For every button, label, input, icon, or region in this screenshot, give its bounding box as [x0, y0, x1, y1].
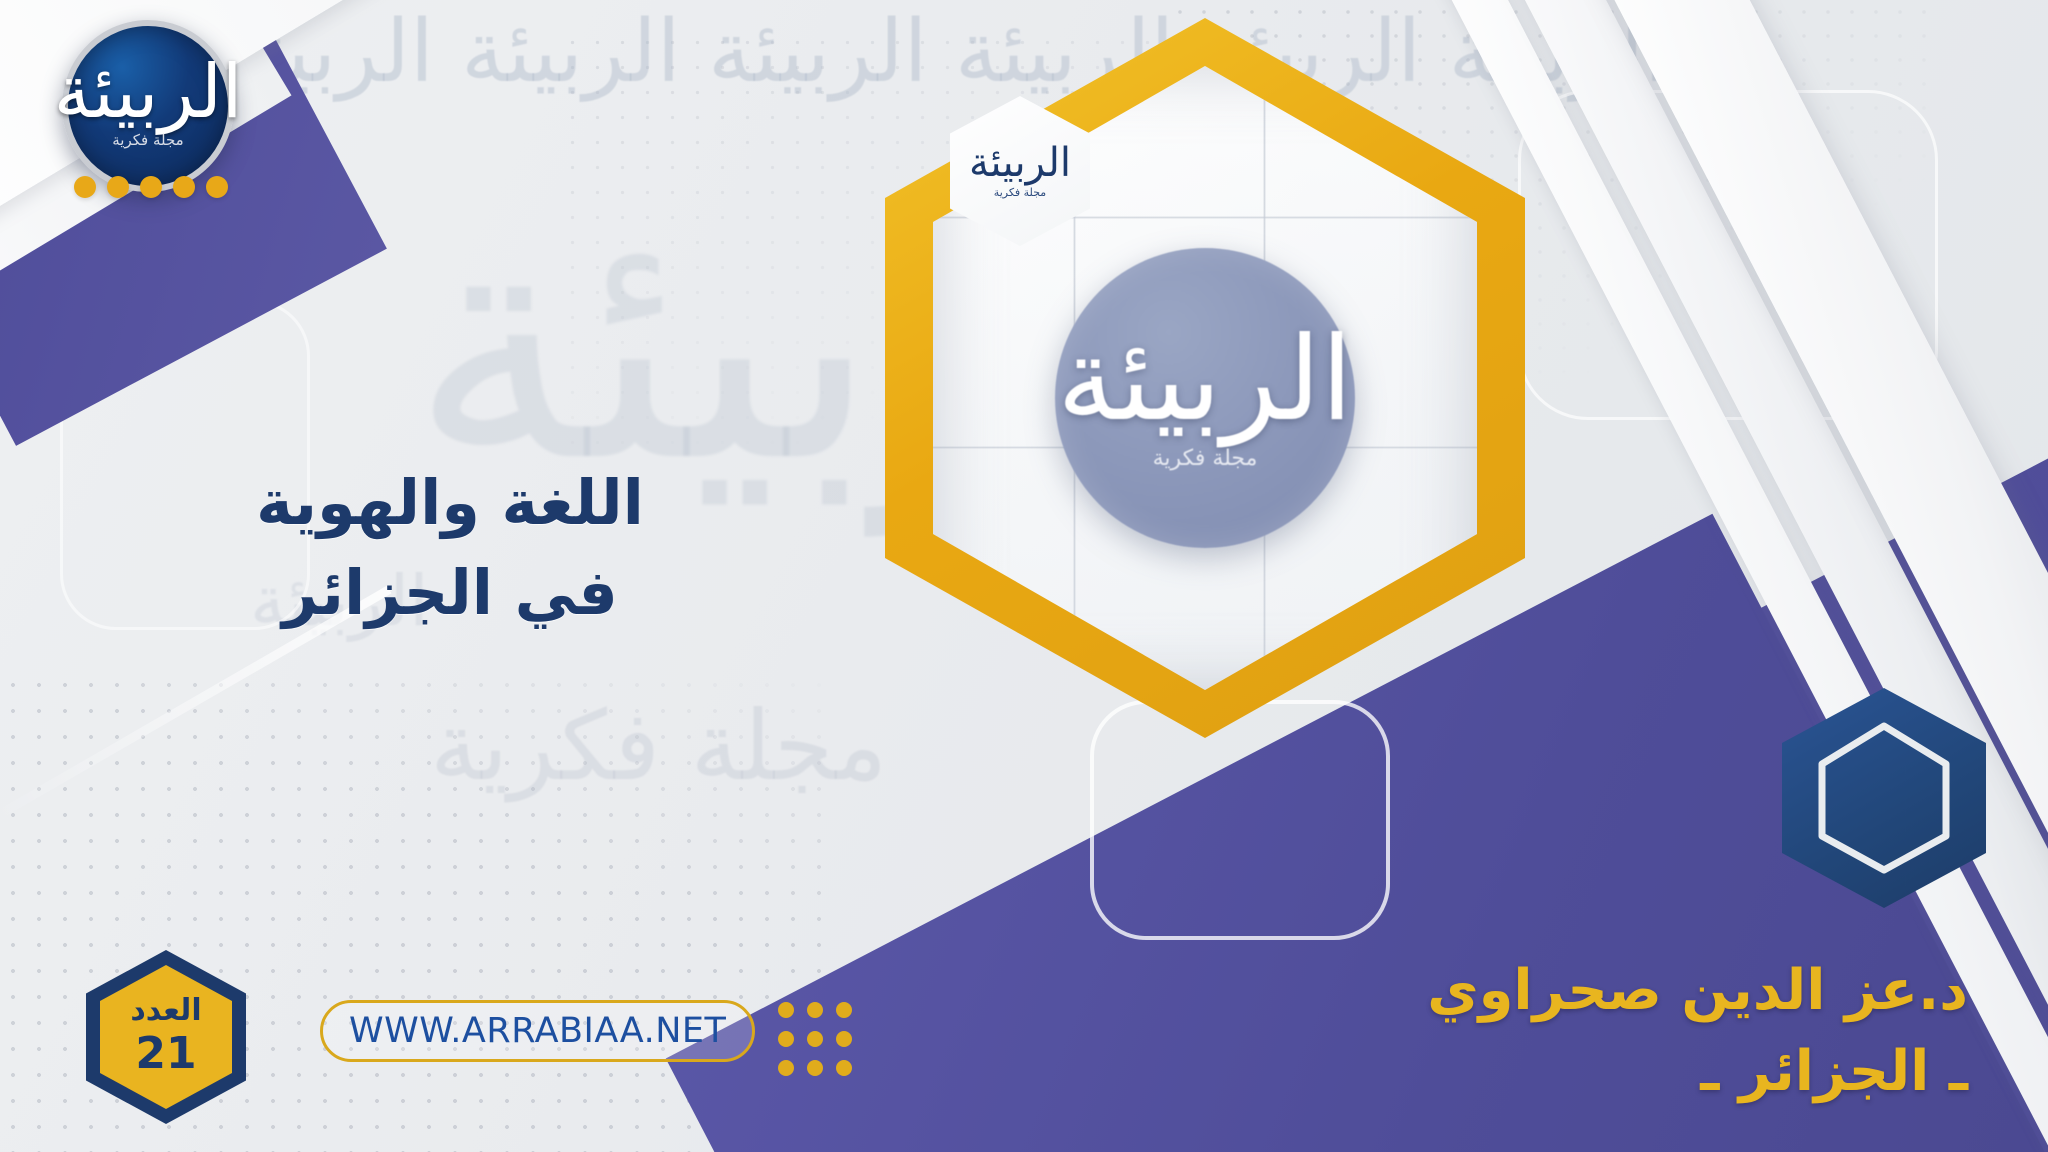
dot-icon: [836, 1002, 852, 1018]
dot-icon: [807, 1002, 823, 1018]
badge-tagline: مجلة فكرية: [994, 186, 1046, 199]
dot-icon: [778, 1060, 794, 1076]
author-name: د.عز الدين صحراوي: [1427, 958, 1968, 1023]
dot-icon: [807, 1060, 823, 1076]
dot-icon: [107, 176, 129, 198]
author-credit: د.عز الدين صحراوي ـ الجزائر ـ: [1427, 950, 1968, 1112]
dot-icon: [778, 1002, 794, 1018]
logo-disc-large: الربيئة مجلة فكرية: [1055, 248, 1355, 548]
logo-disc-tagline: مجلة فكرية: [1153, 446, 1258, 471]
website-url[interactable]: WWW.ARRABIAA.NET: [349, 1011, 726, 1051]
title-line-1: اللغة والهوية: [150, 460, 750, 546]
title-line-2: في الجزائر: [150, 550, 750, 636]
dot-icon: [836, 1031, 852, 1047]
dot-icon: [140, 176, 162, 198]
dot-icon: [206, 176, 228, 198]
hexagon-outline-icon: [1818, 722, 1950, 874]
dot-icon: [778, 1031, 794, 1047]
website-pill[interactable]: WWW.ARRABIAA.NET: [320, 1000, 755, 1062]
dot-icon: [836, 1060, 852, 1076]
author-country: ـ الجزائر ـ: [1427, 1031, 1968, 1112]
dot-grid-icon: [778, 1002, 852, 1076]
magazine-cover-poster: الربيئة الربيئة الربيئة الربيئة الربيئة …: [0, 0, 2048, 1152]
logo-dot-row: [74, 176, 228, 198]
issue-number: 21: [135, 1030, 196, 1078]
issue-badge-inner: العدد 21: [100, 965, 232, 1109]
issue-label: العدد: [130, 996, 201, 1026]
logo-wordmark: الربيئة: [54, 57, 243, 127]
dot-icon: [74, 176, 96, 198]
page-title: اللغة والهوية في الجزائر: [150, 460, 750, 635]
logo-tagline: مجلة فكرية: [112, 131, 183, 149]
dot-icon: [807, 1031, 823, 1047]
magazine-logo-circle: الربيئة مجلة فكرية: [62, 20, 234, 192]
logo-disc-wordmark: الربيئة: [1057, 325, 1353, 435]
badge-wordmark: الربيئة: [969, 144, 1071, 182]
dot-icon: [173, 176, 195, 198]
